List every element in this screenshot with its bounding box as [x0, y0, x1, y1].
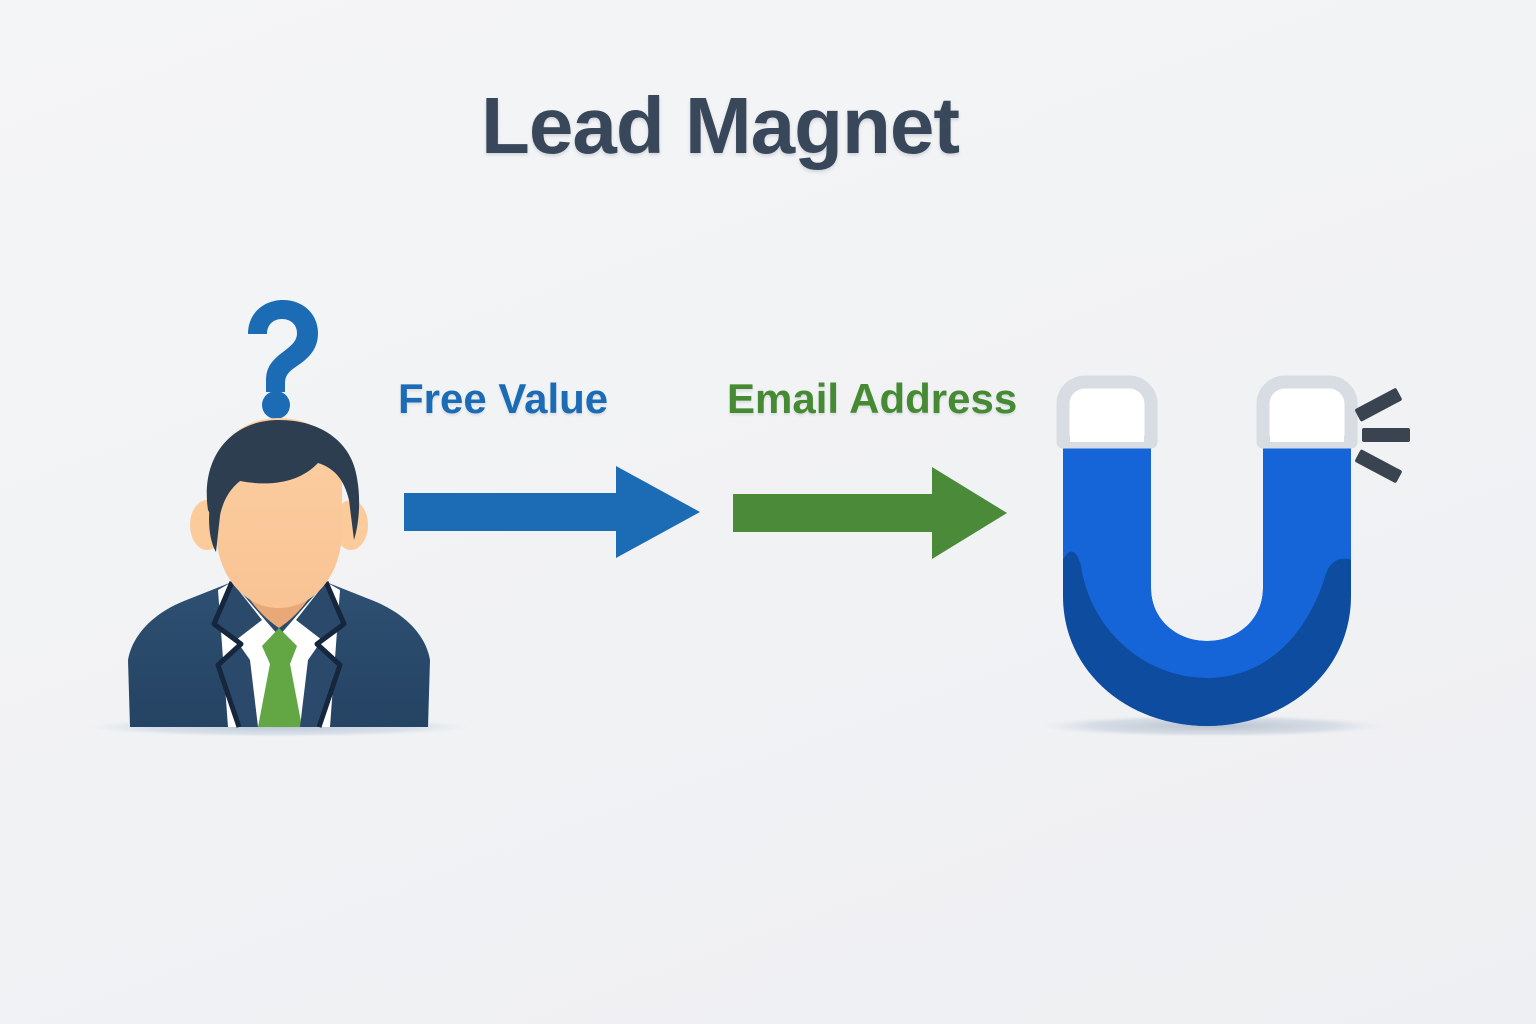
- magnet-pole-right: [1263, 382, 1351, 442]
- ear-right: [334, 500, 368, 550]
- arrow-label-free-value: Free Value: [398, 378, 608, 420]
- magnet-pole-right-fill: [1270, 390, 1344, 442]
- arrow-free-value: [404, 466, 700, 558]
- magnet-body-face: [1063, 440, 1351, 678]
- hair: [207, 420, 359, 540]
- neck: [246, 545, 312, 628]
- spark-line-top: [1354, 388, 1402, 422]
- lapel-left: [214, 582, 262, 727]
- suit-jacket: [128, 582, 430, 727]
- spark-line-middle: [1362, 428, 1410, 442]
- shirt-collar: [218, 582, 340, 727]
- arrow-label-email-address: Email Address: [727, 378, 1017, 420]
- magnet-shadow: [1038, 715, 1386, 737]
- magnet-pole-left-fill: [1070, 390, 1144, 442]
- lapel-line-left: [214, 582, 241, 727]
- arrow-email-address: [733, 467, 1007, 559]
- face: [216, 418, 342, 608]
- infographic-canvas: Lead Magnet: [0, 0, 1536, 1024]
- tie: [258, 628, 302, 727]
- hair-side-left: [209, 492, 224, 552]
- ear-left: [190, 500, 224, 550]
- person-shadow: [87, 717, 471, 737]
- magnet-pole-left: [1063, 382, 1151, 442]
- magnet-body-inner: [1063, 440, 1180, 706]
- lapel-right: [296, 582, 344, 727]
- magnet-spark-lines-icon: [1354, 388, 1410, 484]
- page-title: Lead Magnet: [0, 86, 1440, 166]
- magnet-rim-bottom: [1063, 551, 1351, 726]
- magnet-body-outer: [1063, 440, 1351, 726]
- spark-line-bottom: [1354, 449, 1402, 483]
- lapel-line-right: [317, 582, 344, 727]
- question-mark-icon: [248, 300, 318, 419]
